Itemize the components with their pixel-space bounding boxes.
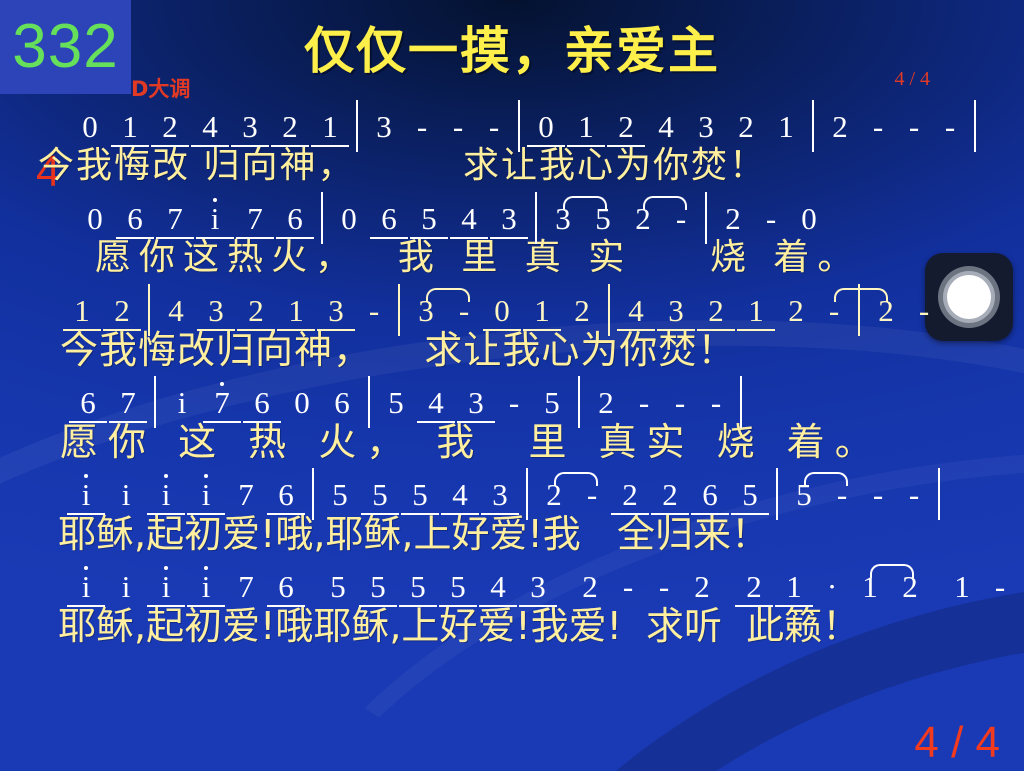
note: 5 [532,386,572,420]
note: 0 [70,110,110,144]
bar-line [148,284,150,336]
key-signature: D大调 [131,79,190,100]
note: 0 [482,294,522,328]
note: 4 [616,294,656,328]
note: 2 [562,294,602,328]
note: 2 [570,570,610,604]
time-signature-top: 4 / 4 [894,69,930,89]
note: 1 [110,110,150,144]
bar-line [321,192,323,244]
note-extend: - [896,110,932,144]
note-extend: - [662,386,698,420]
note: 4 [190,110,230,144]
note: 6 [266,570,306,604]
note: 2 [236,294,276,328]
note-extend: - [753,202,789,236]
note: 6 [690,478,730,512]
note: 4 [440,478,480,512]
note: 3 [656,294,696,328]
note-extend: - [404,110,440,144]
note: 0 [526,110,566,144]
note: 7 [235,202,275,236]
bar-line [578,376,580,428]
note: 0 [282,386,322,420]
note: 6 [115,202,155,236]
note-extend: - [860,478,896,512]
note-dot: · [814,570,850,604]
note: i [106,478,146,512]
bar-line [312,468,314,520]
bar-line [535,192,537,244]
note: 5 [438,570,478,604]
note: 4 [478,570,518,604]
note: 7 [108,386,148,420]
note: 3 [518,570,558,604]
note: 2 [696,294,736,328]
notation-line: 067i7606543352-2-0 [0,196,1024,236]
note-extend: - [496,386,532,420]
note-extend: - [906,294,942,328]
notation-line: 67i7606543-52--- [0,380,1024,420]
note: 2 [586,386,626,420]
note: 1 [566,110,606,144]
note: i [66,570,106,604]
slur-arc [554,472,598,486]
note: 1 [942,570,982,604]
slur-arc [563,196,607,210]
note-extend: - [896,478,932,512]
note-extend: - [610,570,646,604]
note: i [146,478,186,512]
slur-arc [643,196,687,210]
note: 3 [364,110,404,144]
note: 6 [369,202,409,236]
notation-line: 01243213---01243212--- [0,104,1024,144]
lyric-line: 耶稣,起初爱!哦耶稣,上好爱!我爱! 求听 此籁！ [0,604,1024,654]
music-system: iiii765555432--221·121---耶稣,起初爱!哦耶稣,上好爱!… [0,564,1024,654]
note: 3 [489,202,529,236]
note: 1 [310,110,350,144]
note: 3 [316,294,356,328]
lyric-line: 今我悔改归向神， 求让我心为你焚！ [0,328,1024,378]
note: 3 [196,294,236,328]
note: 2 [734,570,774,604]
music-system: 1243213-3-01243212-2-今我悔改归向神， 求让我心为你焚！ [0,288,1024,378]
page-title: 仅仅一摸，亲爱主 [0,26,1024,76]
note: 2 [820,110,860,144]
note: 4 [416,386,456,420]
bar-line [705,192,707,244]
note: 2 [606,110,646,144]
note: 5 [376,386,416,420]
note: 2 [270,110,310,144]
note: 5 [318,570,358,604]
bar-line [608,284,610,336]
slide-canvas: 332 D大调 仅仅一摸，亲爱主 4 / 4 4 4 / 4 01243213-… [0,0,1024,771]
note: 1 [736,294,776,328]
bar-line [356,100,358,152]
bar-line [812,100,814,152]
slur-arc [804,472,848,486]
note: 5 [400,478,440,512]
slur-arc [834,288,888,302]
notation-line: iiii765555432--221·121--- [0,564,1024,604]
music-system: 01243213---01243212---今我悔改 归向神， 求让我心为你焚！ [0,104,1024,194]
note: 2 [102,294,142,328]
slur-arc [870,564,914,578]
bar-line [526,468,528,520]
note: 3 [230,110,270,144]
note: 2 [726,110,766,144]
note: 2 [150,110,190,144]
note-extend: - [356,294,392,328]
note: 0 [329,202,369,236]
bar-line [518,100,520,152]
note: 4 [449,202,489,236]
note: i [162,386,202,420]
note: 5 [320,478,360,512]
note: 5 [409,202,449,236]
note: 5 [358,570,398,604]
note: i [195,202,235,236]
note-extend: - [476,110,512,144]
note: 7 [202,386,242,420]
note: 0 [75,202,115,236]
note: 7 [226,570,266,604]
music-systems: 01243213---01243212---今我悔改 归向神， 求让我心为你焚！… [0,104,1024,656]
lyric-line: 愿你这热火， 我 里 真 实 烧 着。 [0,236,1024,286]
note: 2 [776,294,816,328]
notation-line: 1243213-3-01243212-2- [0,288,1024,328]
lyric-line: 耶稣,起初爱!哦,耶稣,上好爱!我 全归来！ [0,512,1024,562]
note-extend: - [1018,570,1024,604]
note: 6 [322,386,362,420]
note: 2 [610,478,650,512]
note: 6 [68,386,108,420]
note: i [186,478,226,512]
note: 1 [276,294,316,328]
bar-line [776,468,778,520]
note: 6 [242,386,282,420]
note: 1 [766,110,806,144]
note: 2 [650,478,690,512]
note: i [146,570,186,604]
time-signature-bottom: 4 / 4 [914,721,1000,765]
notation-line: iiii76555432-22655--- [0,472,1024,512]
note-extend: - [440,110,476,144]
note: 3 [456,386,496,420]
note-extend: - [626,386,662,420]
note: 1 [62,294,102,328]
note: i [186,570,226,604]
note: 5 [360,478,400,512]
note-extend: - [698,386,734,420]
bar-line [368,376,370,428]
note-extend: - [982,570,1018,604]
note-extend: - [932,110,968,144]
bar-line [154,376,156,428]
music-system: iiii76555432-22655---耶稣,起初爱!哦,耶稣,上好爱!我 全… [0,472,1024,562]
note: 1 [774,570,814,604]
note: 5 [398,570,438,604]
note: 5 [730,478,770,512]
note: 7 [226,478,266,512]
note: i [66,478,106,512]
note: 1 [522,294,562,328]
note: 4 [646,110,686,144]
bar-line [974,100,976,152]
note: 2 [713,202,753,236]
music-system: 67i7606543-52---愿你 这 热 火， 我 里 真实 烧 着。 [0,380,1024,470]
note-extend: - [646,570,682,604]
note: i [106,570,146,604]
lyric-line: 今我悔改 归向神， 求让我心为你焚！ [0,144,1024,194]
note-extend: - [860,110,896,144]
note: 4 [156,294,196,328]
slur-arc [426,288,470,302]
note: 3 [480,478,520,512]
note: 2 [682,570,722,604]
bar-line [938,468,940,520]
note: 7 [155,202,195,236]
note: 6 [266,478,306,512]
note: 0 [789,202,829,236]
music-system: 067i7606543352-2-0愿你这热火， 我 里 真 实 烧 着。 [0,196,1024,286]
note: 6 [275,202,315,236]
bar-line [398,284,400,336]
bar-line [740,376,742,428]
note: 3 [686,110,726,144]
